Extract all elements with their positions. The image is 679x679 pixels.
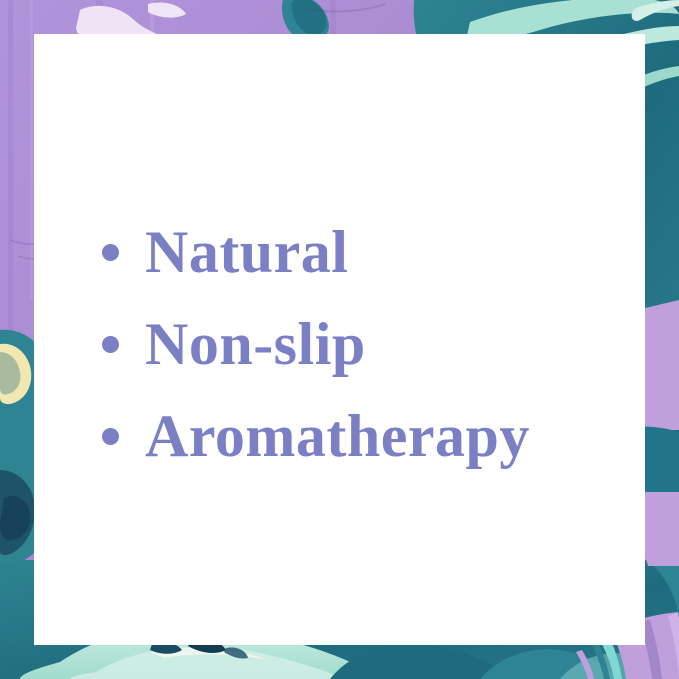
list-item: Natural — [102, 206, 530, 298]
feature-label: Aromatherapy — [145, 406, 530, 466]
feature-list: Natural Non-slip Aromatherapy — [102, 206, 530, 482]
content-card: Natural Non-slip Aromatherapy — [34, 34, 645, 645]
bullet-dot-icon — [102, 428, 119, 445]
bullet-dot-icon — [102, 244, 119, 261]
list-item: Aromatherapy — [102, 390, 530, 482]
product-feature-graphic: Natural Non-slip Aromatherapy — [0, 0, 679, 679]
bullet-dot-icon — [102, 336, 119, 353]
lavender-lower-right — [642, 492, 679, 566]
list-item: Non-slip — [102, 298, 530, 390]
feature-label: Non-slip — [145, 314, 366, 374]
feature-label: Natural — [145, 222, 348, 282]
